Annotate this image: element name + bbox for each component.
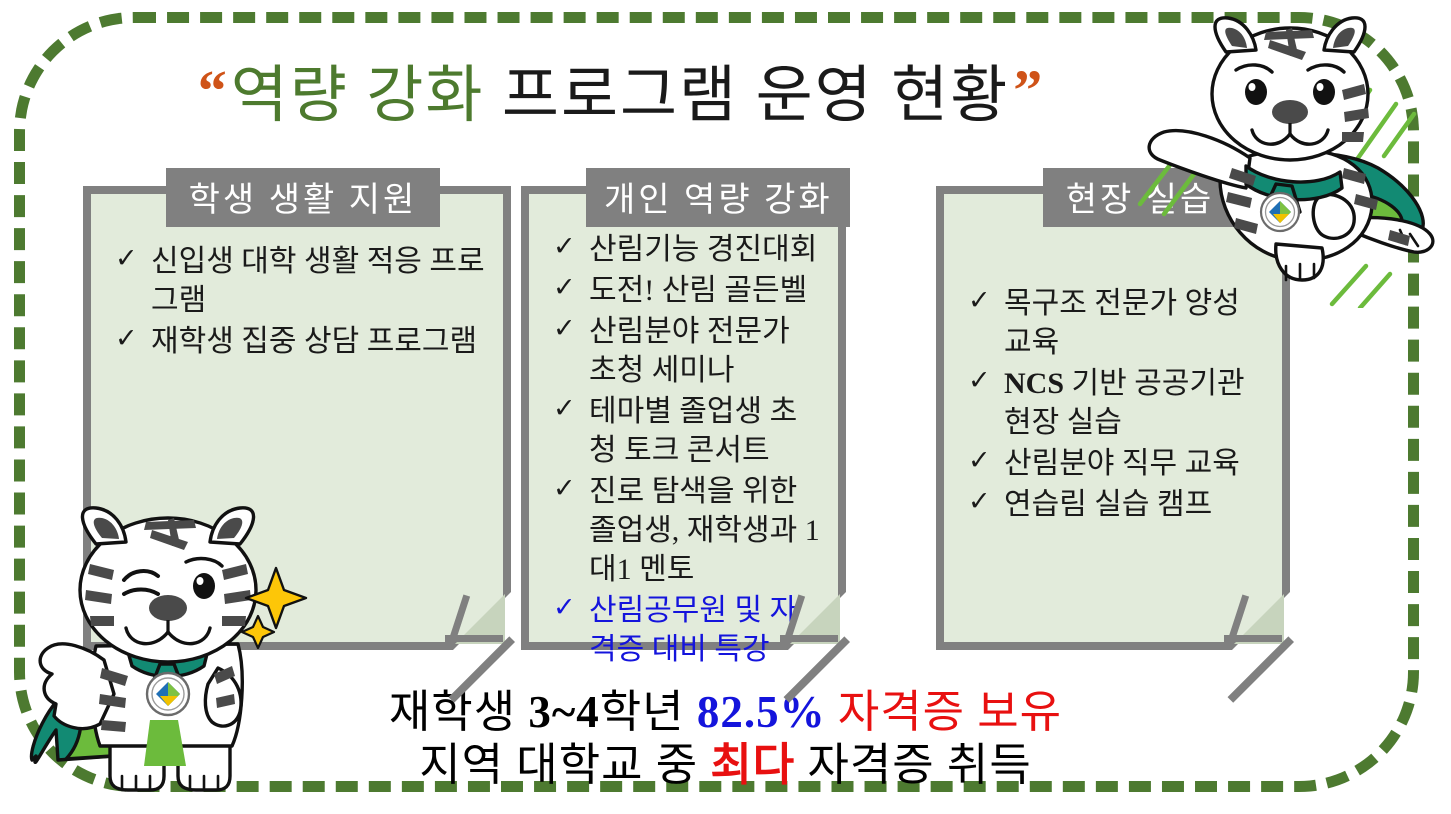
list-item-label: NCS 기반 공공기관 현장 실습 [1004, 367, 1245, 439]
emblem-badge [1261, 193, 1299, 231]
list-item[interactable]: ✓ 도전! 산림 골든벨 [551, 271, 824, 310]
check-icon: ✓ [553, 391, 576, 426]
list-item-label: 산림분야 직무 교육 [1004, 447, 1240, 480]
white-tiger-mascot-flying [1128, 8, 1448, 308]
list-item-label: 테마별 졸업생 초청 토크 콘서트 [589, 395, 797, 467]
list-item-label: 연습림 실습 캠프 [1004, 488, 1212, 521]
check-icon: ✓ [553, 311, 576, 346]
eye-right [1313, 79, 1335, 105]
check-icon: ✓ [553, 229, 576, 264]
check-icon: ✓ [553, 590, 576, 625]
list-item-label: 도전! 산림 골든벨 [589, 274, 807, 307]
card-1-list: ✓ 신입생 대학 생활 적응 프로그램 ✓ 재학생 집중 상담 프로그램 [113, 242, 489, 363]
title-rest-text: 프로그램 운영 현황 [484, 62, 1009, 130]
list-item[interactable]: ✓ 산림분야 전문가 초청 세미나 [551, 312, 824, 390]
card-individual-capacity[interactable]: ✓ 산림기능 경진대회 ✓ 도전! 산림 골든벨 ✓ 산림분야 전문가 초청 세… [521, 186, 846, 650]
check-icon: ✓ [968, 363, 991, 398]
check-icon: ✓ [968, 283, 991, 318]
card-2-header: 개인 역량 강화 [586, 168, 850, 227]
summary-l2-seg1: 지역 대학교 중 [419, 740, 710, 790]
list-item-label: 산림분야 전문가 초청 세미나 [589, 315, 790, 387]
list-item[interactable]: ✓ 산림기능 경진대회 [551, 230, 824, 269]
summary-l2-seg3: 자격증 취득 [795, 740, 1032, 790]
eye-right [193, 573, 215, 599]
check-icon: ✓ [115, 321, 138, 356]
nose [1272, 100, 1308, 124]
list-item-label: 진로 탐색을 위한 졸업생, 재학생과 1대1 멘토 [589, 475, 820, 586]
list-item[interactable]: ✓ 연습림 실습 캠프 [966, 485, 1268, 524]
card-3-list: ✓ 목구조 전문가 양성 교육 ✓ NCS 기반 공공기관 현장 실습 ✓ 산림… [966, 284, 1268, 526]
summary-l1-seg3: 학년 [600, 687, 697, 737]
title-accent-text: 역량 강화 [231, 62, 485, 130]
quote-close-icon: ” [1013, 58, 1042, 123]
page-title: “ 역량 강화 프로그램 운영 현황 ” [0, 44, 1240, 134]
summary-l1-grade: 3~4 [528, 687, 599, 737]
list-item-label: 신입생 대학 생활 적응 프로그램 [151, 245, 485, 317]
summary-l1-seg5: 자격증 보유 [826, 687, 1063, 737]
list-item[interactable]: ✓ NCS 기반 공공기관 현장 실습 [966, 364, 1268, 442]
emblem-badge [147, 673, 189, 715]
nose [149, 595, 187, 621]
card-2-list: ✓ 산림기능 경진대회 ✓ 도전! 산림 골든벨 ✓ 산림분야 전문가 초청 세… [551, 230, 824, 671]
white-tiger-mascot-pointing [18, 498, 318, 810]
slide-canvas: “ 역량 강화 프로그램 운영 현황 ” ✓ 신입생 대학 생활 적응 프로그램… [0, 0, 1451, 814]
list-item-label: 재학생 집중 상담 프로그램 [151, 325, 477, 358]
check-icon: ✓ [968, 484, 991, 519]
list-item-bold-prefix: NCS [1004, 367, 1064, 400]
check-icon: ✓ [553, 270, 576, 305]
check-icon: ✓ [968, 443, 991, 478]
list-item-highlighted[interactable]: ✓ 산림공무원 및 자격증 대비 특강 [551, 591, 824, 669]
list-item[interactable]: ✓ 산림분야 직무 교육 [966, 444, 1268, 483]
summary-l2-highlight: 최다 [710, 740, 795, 790]
list-item[interactable]: ✓ 재학생 집중 상담 프로그램 [113, 322, 489, 361]
check-icon: ✓ [115, 241, 138, 276]
quote-open-icon: “ [198, 58, 227, 123]
check-icon: ✓ [553, 471, 576, 506]
list-item-label: 산림공무원 및 자격증 대비 특강 [589, 594, 797, 666]
list-item[interactable]: ✓ 진로 탐색을 위한 졸업생, 재학생과 1대1 멘토 [551, 472, 824, 589]
arm-folded [1313, 194, 1354, 238]
list-item[interactable]: ✓ 신입생 대학 생활 적응 프로그램 [113, 242, 489, 320]
list-item[interactable]: ✓ 테마별 졸업생 초청 토크 콘서트 [551, 392, 824, 470]
list-item-label: 산림기능 경진대회 [589, 233, 817, 266]
summary-percentage: 82.5% [697, 687, 826, 737]
card-1-header: 학생 생활 지원 [166, 168, 440, 227]
eye-left [1245, 79, 1267, 105]
